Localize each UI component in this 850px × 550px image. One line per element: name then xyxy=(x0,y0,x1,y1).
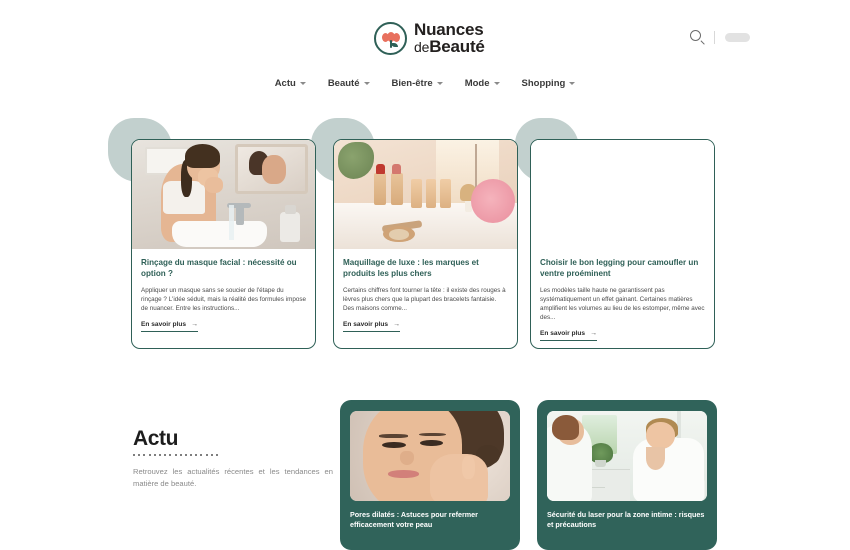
section-description: Retrouvez les actualités récentes et les… xyxy=(133,466,333,490)
card-title: Rinçage du masque facial : nécessité ou … xyxy=(141,258,306,280)
site-header: Nuances deBeauté xyxy=(0,0,850,70)
featured-card[interactable]: Choisir le bon legging pour camoufler un… xyxy=(530,139,715,349)
card-excerpt: Certains chiffres font tourner la tête :… xyxy=(343,286,508,313)
arrow-right-icon: → xyxy=(191,321,198,328)
nav-label: Bien-être xyxy=(392,78,433,89)
header-divider xyxy=(714,31,715,44)
nav-item-beaute[interactable]: Beauté xyxy=(328,78,370,89)
arrow-right-icon: → xyxy=(393,321,400,328)
nav-label: Mode xyxy=(465,78,490,89)
read-more-link[interactable]: En savoir plus → xyxy=(343,321,400,332)
page-root: Nuances deBeauté Actu Beauté Bien-être M… xyxy=(0,0,850,550)
account-pill-button[interactable] xyxy=(725,33,750,42)
nav-item-bien-etre[interactable]: Bien-être xyxy=(392,78,443,89)
search-icon[interactable] xyxy=(690,30,704,44)
chevron-down-icon xyxy=(494,82,500,85)
nav-label: Beauté xyxy=(328,78,360,89)
card-body: Maquillage de luxe : les marques et prod… xyxy=(334,249,517,348)
actu-card[interactable]: Pores dilatés : Astuces pour refermer ef… xyxy=(340,400,520,550)
header-actions xyxy=(690,30,750,44)
card-title: Choisir le bon legging pour camoufler un… xyxy=(540,258,705,280)
dotted-divider xyxy=(133,454,333,458)
featured-card[interactable]: Rinçage du masque facial : nécessité ou … xyxy=(131,139,316,349)
card-title: Maquillage de luxe : les marques et prod… xyxy=(343,258,508,280)
site-logo[interactable]: Nuances deBeauté xyxy=(374,21,485,56)
card-body: Choisir le bon legging pour camoufler un… xyxy=(531,249,714,348)
read-more-link[interactable]: En savoir plus → xyxy=(540,330,597,341)
read-more-label: En savoir plus xyxy=(540,330,585,337)
card-image-placeholder xyxy=(531,140,714,249)
read-more-label: En savoir plus xyxy=(343,321,388,328)
card-image-bathroom xyxy=(132,140,315,249)
nav-label: Actu xyxy=(275,78,296,89)
actu-section: Actu Retrouvez les actualités récentes e… xyxy=(133,428,333,490)
card-excerpt: Appliquer un masque sans se soucier de l… xyxy=(141,286,306,313)
actu-card-title: Sécurité du laser pour la zone intime : … xyxy=(547,510,707,530)
logo-line-1: Nuances xyxy=(414,21,485,38)
flower-logo-icon xyxy=(374,22,407,55)
chevron-down-icon xyxy=(364,82,370,85)
logo-beaute: Beauté xyxy=(429,37,485,56)
chevron-down-icon xyxy=(569,82,575,85)
featured-card[interactable]: Maquillage de luxe : les marques et prod… xyxy=(333,139,518,349)
main-navigation: Actu Beauté Bien-être Mode Shopping xyxy=(0,78,850,89)
read-more-link[interactable]: En savoir plus → xyxy=(141,321,198,332)
chevron-down-icon xyxy=(437,82,443,85)
logo-wordmark: Nuances deBeauté xyxy=(414,21,485,56)
nav-item-mode[interactable]: Mode xyxy=(465,78,500,89)
actu-card-title: Pores dilatés : Astuces pour refermer ef… xyxy=(350,510,510,530)
nav-label: Shopping xyxy=(522,78,566,89)
actu-card[interactable]: Sécurité du laser pour la zone intime : … xyxy=(537,400,717,550)
section-title: Actu xyxy=(133,428,333,449)
card-excerpt: Les modèles taille haute ne garantissent… xyxy=(540,286,705,323)
logo-line-2: deBeauté xyxy=(414,38,485,55)
card-body: Rinçage du masque facial : nécessité ou … xyxy=(132,249,315,348)
chevron-down-icon xyxy=(300,82,306,85)
card-image-makeup xyxy=(334,140,517,249)
nav-item-actu[interactable]: Actu xyxy=(275,78,306,89)
actu-card-image-face xyxy=(350,411,510,501)
read-more-label: En savoir plus xyxy=(141,321,186,328)
actu-card-image-clinic xyxy=(547,411,707,501)
nav-item-shopping[interactable]: Shopping xyxy=(522,78,576,89)
arrow-right-icon: → xyxy=(590,330,597,337)
logo-de: de xyxy=(414,39,429,55)
